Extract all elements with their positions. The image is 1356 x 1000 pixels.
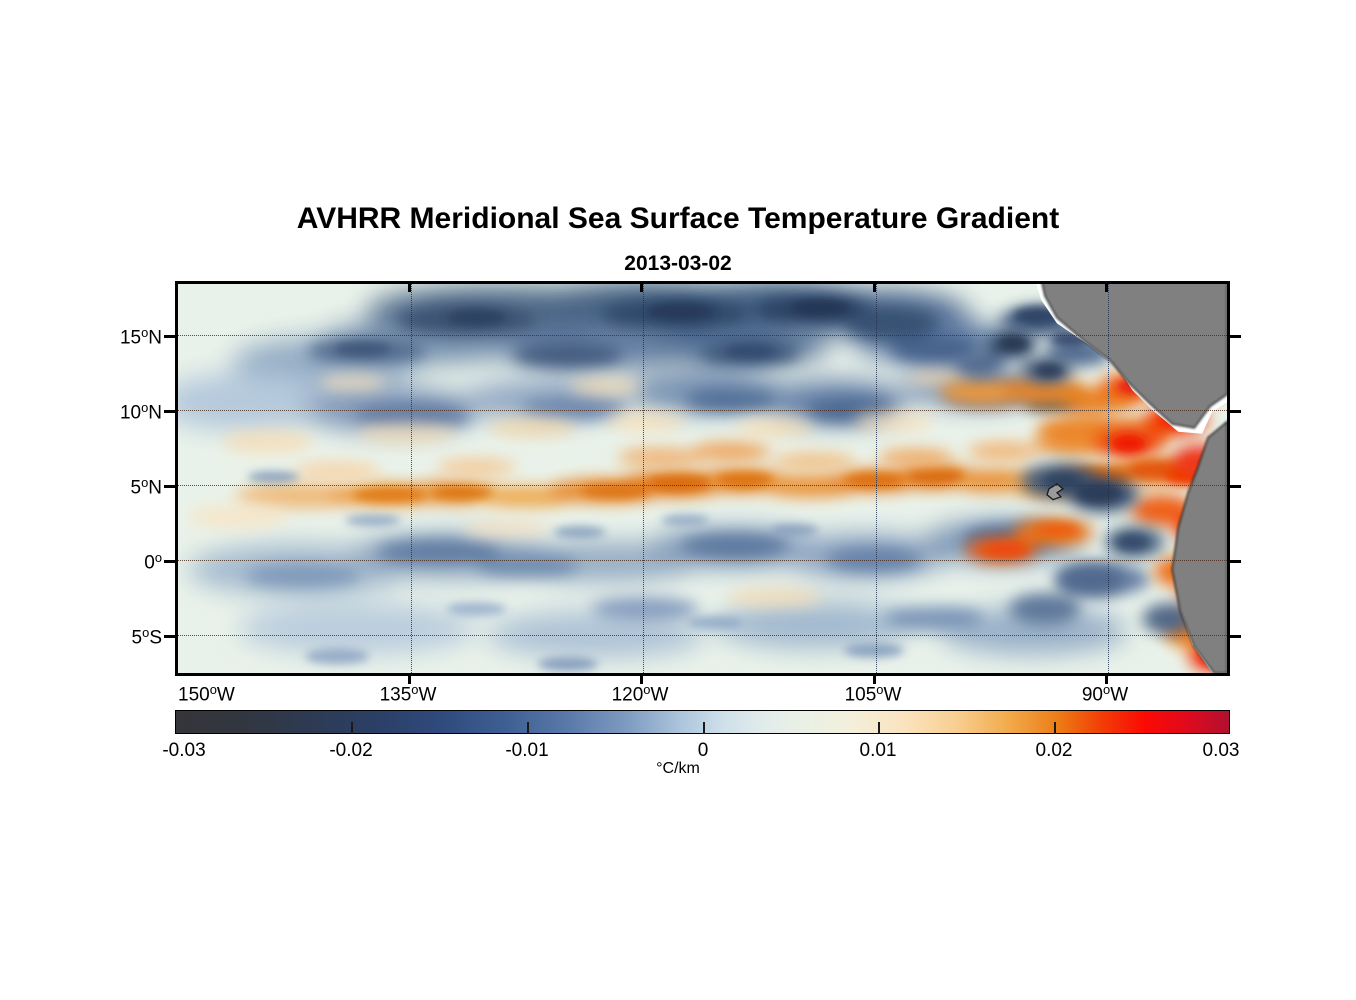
figure-canvas: AVHRR Meridional Sea Surface Temperature… (0, 0, 1356, 1000)
xlabel-120w-suffix: W (650, 685, 668, 706)
xtick-top-90w (1105, 281, 1108, 292)
ylabel-5s-num: 5 (132, 628, 143, 649)
colorbar-label-0.03: 0.03 (1203, 740, 1240, 762)
ylabel-0-num: 0 (144, 553, 155, 574)
colorbar-label-0: 0 (698, 740, 709, 762)
ytick-right-5s (1229, 635, 1241, 638)
ylabel-10n: 10oN (120, 400, 162, 425)
ylabel-5s: 5oS (132, 625, 162, 650)
sst-gradient-field (178, 284, 1227, 673)
ylabel-5n-num: 5 (131, 478, 142, 499)
colorbar-label-0.01: 0.01 (860, 740, 897, 762)
ytick-5s (164, 635, 176, 638)
ytick-0 (164, 560, 176, 563)
figure-subtitle: 2013-03-02 (0, 252, 1356, 276)
ytick-5n (164, 485, 176, 488)
ylabel-15n-num: 15 (120, 328, 141, 349)
colorbar-tick--0.01 (527, 722, 529, 734)
xlabel-105w-suffix: W (883, 685, 901, 706)
colorbar-unit-label: °C/km (0, 760, 1356, 778)
ylabel-10n-num: 10 (120, 403, 141, 424)
figure-title: AVHRR Meridional Sea Surface Temperature… (0, 202, 1356, 236)
xlabel-90w: 90oW (1082, 682, 1128, 707)
ylabel-15n: 15oN (120, 325, 162, 350)
degree-symbol-icon: o (155, 550, 162, 565)
ytick-right-5n (1229, 485, 1241, 488)
colorbar-label--0.03: -0.03 (162, 740, 205, 762)
xlabel-150w-num: 150 (178, 685, 210, 706)
colorbar-label--0.02: -0.02 (329, 740, 372, 762)
degree-symbol-icon: o (876, 682, 883, 697)
degree-symbol-icon: o (210, 682, 217, 697)
ytick-right-15n (1229, 335, 1241, 338)
xtick-top-120w (640, 281, 643, 292)
ytick-10n (164, 410, 176, 413)
map-axes[interactable] (175, 281, 1230, 676)
ylabel-5n: 5oN (131, 475, 163, 500)
xlabel-120w-num: 120 (612, 685, 644, 706)
colorbar-tick-0.01 (878, 722, 880, 734)
xlabel-105w: 105oW (845, 682, 902, 707)
xlabel-135w: 135oW (380, 682, 437, 707)
ylabel-5s-suffix: S (149, 628, 162, 649)
xlabel-150w-suffix: W (217, 685, 235, 706)
ylabel-10n-suffix: N (148, 403, 162, 424)
xtick-top-135w (408, 281, 411, 292)
xlabel-90w-suffix: W (1110, 685, 1128, 706)
xlabel-90w-num: 90 (1082, 685, 1103, 706)
xlabel-105w-num: 105 (845, 685, 877, 706)
degree-symbol-icon: o (643, 682, 650, 697)
colorbar-tick--0.02 (351, 722, 353, 734)
xlabel-135w-suffix: W (418, 685, 436, 706)
colorbar-tick-0.02 (1054, 722, 1056, 734)
degree-symbol-icon: o (411, 682, 418, 697)
colorbar-label--0.01: -0.01 (505, 740, 548, 762)
ylabel-15n-suffix: N (148, 328, 162, 349)
colorbar-label-0.02: 0.02 (1036, 740, 1073, 762)
ylabel-5n-suffix: N (148, 478, 162, 499)
xtick-top-105w (873, 281, 876, 292)
ytick-right-0 (1229, 560, 1241, 563)
ylabel-0: 0o (144, 550, 162, 575)
ytick-15n (164, 335, 176, 338)
xlabel-150w: 150oW (178, 682, 235, 707)
xlabel-120w: 120oW (612, 682, 669, 707)
colorbar-tick-0 (703, 722, 705, 734)
sst-gradient-raster (178, 284, 1227, 673)
ytick-right-10n (1229, 410, 1241, 413)
xlabel-135w-num: 135 (380, 685, 412, 706)
